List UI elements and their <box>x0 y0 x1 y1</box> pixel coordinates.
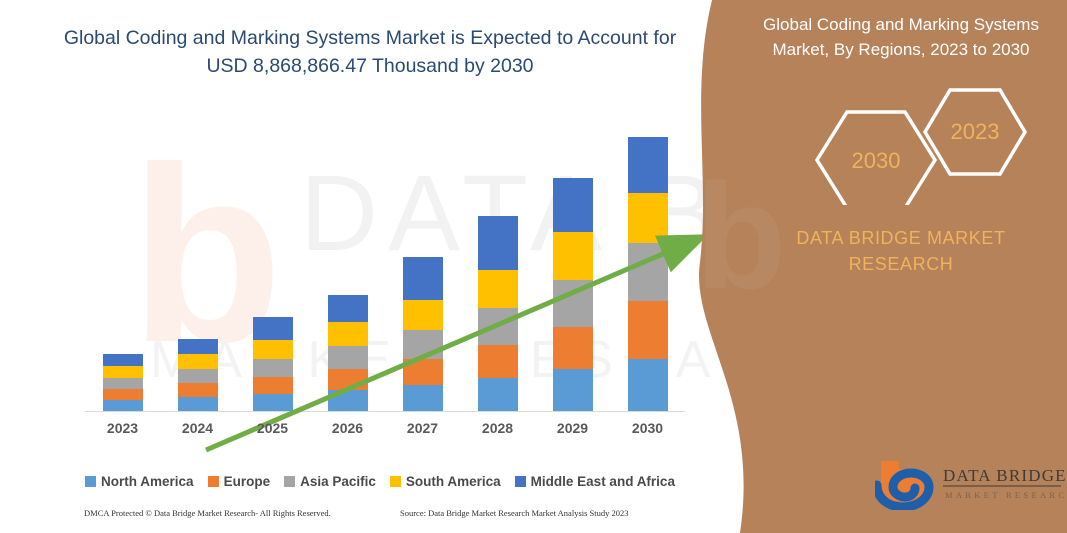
bar-segment <box>628 137 668 193</box>
legend-item[interactable]: Middle East and Africa <box>515 474 675 489</box>
x-axis-label: 2023 <box>85 420 160 444</box>
bar-segment <box>103 389 143 400</box>
footer-copyright: DMCA Protected © Data Bridge Market Rese… <box>84 508 331 518</box>
legend-item[interactable]: Asia Pacific <box>284 474 376 489</box>
footer-source: Source: Data Bridge Market Research Mark… <box>400 508 629 518</box>
company-logo: DATA BRIDGE MARKET RESEARCH <box>875 455 1065 510</box>
brand-name: DATA BRIDGE MARKET RESEARCH <box>745 225 1057 277</box>
logo-bridge-icon <box>877 461 933 507</box>
x-axis-label: 2027 <box>385 420 460 444</box>
bar-segment <box>103 400 143 411</box>
legend-swatch-icon <box>284 476 295 487</box>
stacked-bar[interactable] <box>103 354 143 411</box>
x-axis-labels: 20232024202520262027202820292030 <box>85 420 685 444</box>
legend-swatch-icon <box>515 476 526 487</box>
legend-label: North America <box>101 474 194 489</box>
hexagon-2030-label: 2030 <box>852 148 901 173</box>
page-title: Global Coding and Marking Systems Market… <box>60 24 680 80</box>
legend-label: Middle East and Africa <box>531 474 675 489</box>
logo-primary-text: DATA BRIDGE <box>943 466 1065 485</box>
x-axis-label: 2026 <box>310 420 385 444</box>
legend-swatch-icon <box>85 476 96 487</box>
chart-pane: Global Coding and Marking Systems Market… <box>0 0 760 533</box>
bar-column <box>85 110 160 411</box>
infographic-root: b DATA BRIDGE MARKET RESEARCH Global Cod… <box>0 0 1067 533</box>
legend-item[interactable]: North America <box>85 474 194 489</box>
legend-swatch-icon <box>208 476 219 487</box>
legend-label: Europe <box>224 474 271 489</box>
x-axis-label: 2028 <box>460 420 535 444</box>
x-axis-label: 2029 <box>535 420 610 444</box>
legend-label: South America <box>406 474 501 489</box>
hexagon-badges: 2023 2030 <box>805 85 1035 205</box>
footer: DMCA Protected © Data Bridge Market Rese… <box>0 508 700 528</box>
bar-segment <box>103 354 143 366</box>
legend-swatch-icon <box>390 476 401 487</box>
x-axis-label: 2024 <box>160 420 235 444</box>
legend-label: Asia Pacific <box>300 474 376 489</box>
brand-panel-title: Global Coding and Marking Systems Market… <box>743 12 1059 62</box>
brand-panel-content: b Global Coding and Marking Systems Mark… <box>735 0 1067 533</box>
brand-name-line2: RESEARCH <box>745 251 1057 277</box>
chart-plot-area <box>85 110 685 412</box>
bar-segment <box>103 378 143 389</box>
logo-secondary-text: MARKET RESEARCH <box>945 490 1065 500</box>
x-axis-label: 2025 <box>235 420 310 444</box>
bar-segment <box>103 366 143 378</box>
legend-item[interactable]: South America <box>390 474 501 489</box>
legend-item[interactable]: Europe <box>208 474 271 489</box>
hexagon-2023-label: 2023 <box>951 119 1000 144</box>
chart-legend: North AmericaEuropeAsia PacificSouth Ame… <box>60 470 700 492</box>
x-axis-label: 2030 <box>610 420 685 444</box>
brand-name-line1: DATA BRIDGE MARKET <box>745 225 1057 251</box>
